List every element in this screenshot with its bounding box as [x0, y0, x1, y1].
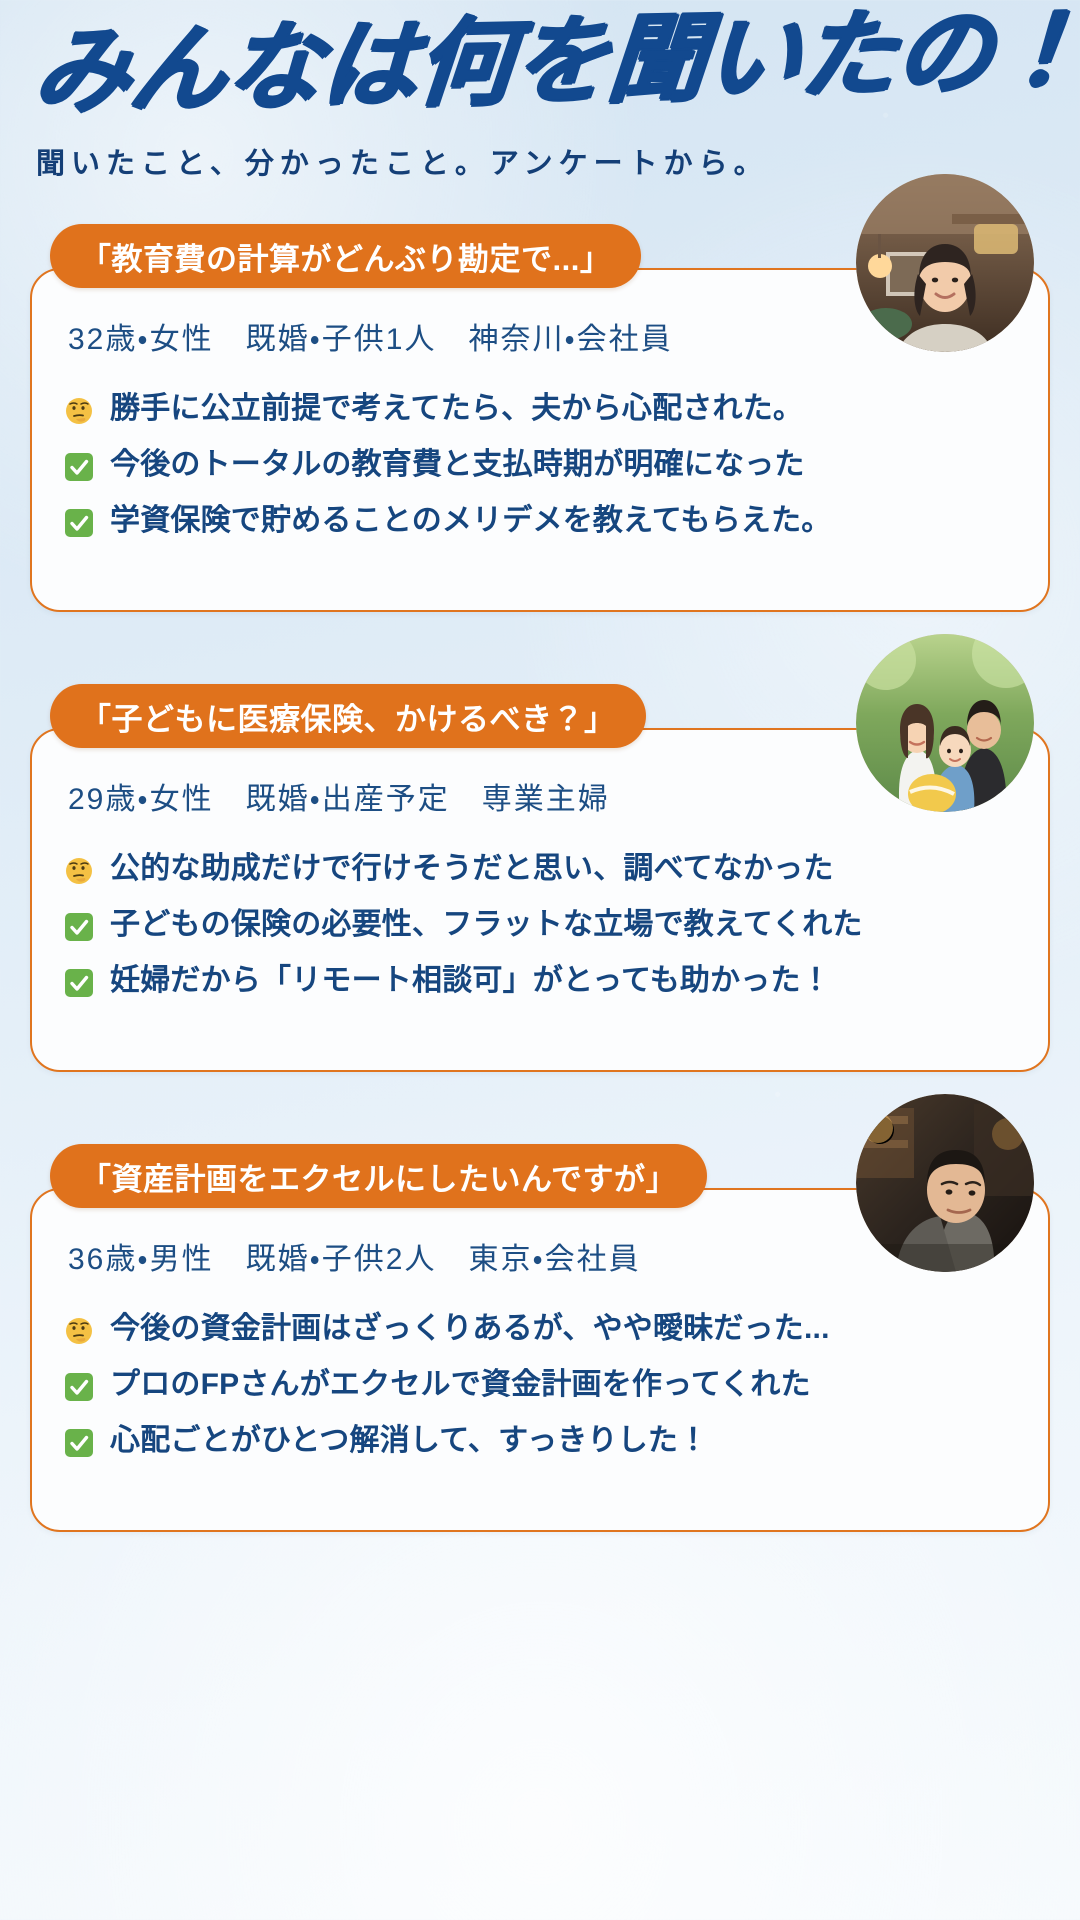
- point-text: 心配ごとがひとつ解消して、すっきりした！: [110, 1422, 708, 1460]
- point-text: 学資保険で貯めることのメリデメを教えてもらえた。: [110, 502, 832, 540]
- points-list: 公的な助成だけで行けそうだと思い、調べてなかった 子どもの保険の必要性、フラット…: [62, 850, 1024, 1006]
- poster-page: みんなは何を聞いたの！？ 聞いたこと、分かったこと。アンケートから。 「教育費の…: [0, 0, 1080, 1920]
- thinking-face-icon: [62, 1314, 96, 1348]
- point-text: 勝手に公立前提で考えてたら、夫から心配された。: [110, 390, 803, 428]
- testimonial-card: 「資産計画をエクセルにしたいんですが」: [30, 1188, 1050, 1532]
- green-check-icon: [62, 1426, 96, 1460]
- page-subtitle: 聞いたこと、分かったこと。アンケートから。: [36, 140, 769, 182]
- green-check-icon: [62, 1370, 96, 1404]
- list-item: 勝手に公立前提で考えてたら、夫から心配された。: [62, 390, 1024, 434]
- list-item: 今後のトータルの教育費と支払時期が明確になった: [62, 446, 1024, 490]
- points-list: 今後の資金計画はざっくりあるが、やや曖昧だった... プロのFPさんがエクセルで…: [62, 1310, 1024, 1466]
- green-check-icon: [62, 450, 96, 484]
- respondent-meta: 36歳・男性 既婚・子供2人 東京・会社員: [68, 1234, 641, 1278]
- respondent-meta: 29歳・女性 既婚・出産予定 専業主婦: [68, 774, 610, 818]
- avatar: [856, 174, 1034, 352]
- point-text: プロのFPさんがエクセルで資金計画を作ってくれた: [110, 1366, 811, 1404]
- thinking-face-icon: [62, 394, 96, 428]
- testimonial-card: 「子どもに医療保険、かけるべき？」: [30, 728, 1050, 1072]
- list-item: プロのFPさんがエクセルで資金計画を作ってくれた: [62, 1366, 1024, 1410]
- card-question-badge: 「資産計画をエクセルにしたいんですが」: [50, 1144, 707, 1208]
- testimonial-card: 「教育費の計算がどんぶり勘定で...」: [30, 268, 1050, 612]
- thinking-face-icon: [62, 854, 96, 888]
- point-text: 今後のトータルの教育費と支払時期が明確になった: [110, 446, 805, 484]
- page-title: みんなは何を聞いたの！？: [30, 1, 1061, 123]
- avatar: [856, 634, 1034, 812]
- point-text: 公的な助成だけで行けそうだと思い、調べてなかった: [110, 850, 834, 888]
- list-item: 子どもの保険の必要性、フラットな立場で教えてくれた: [62, 906, 1024, 950]
- point-text: 妊婦だから「リモート相談可」がとっても助かった！: [110, 962, 831, 1000]
- points-list: 勝手に公立前提で考えてたら、夫から心配された。 今後のトータルの教育費と支払時期…: [62, 390, 1024, 546]
- green-check-icon: [62, 910, 96, 944]
- card-question-badge: 「子どもに医療保険、かけるべき？」: [50, 684, 646, 748]
- point-text: 子どもの保険の必要性、フラットな立場で教えてくれた: [110, 906, 863, 944]
- list-item: 公的な助成だけで行けそうだと思い、調べてなかった: [62, 850, 1024, 894]
- green-check-icon: [62, 966, 96, 1000]
- list-item: 学資保険で貯めることのメリデメを教えてもらえた。: [62, 502, 1024, 546]
- respondent-meta: 32歳・女性 既婚・子供1人 神奈川・会社員: [68, 314, 673, 358]
- list-item: 心配ごとがひとつ解消して、すっきりした！: [62, 1422, 1024, 1466]
- list-item: 妊婦だから「リモート相談可」がとっても助かった！: [62, 962, 1024, 1006]
- card-question-badge: 「教育費の計算がどんぶり勘定で...」: [50, 224, 641, 288]
- avatar: [856, 1094, 1034, 1272]
- point-text: 今後の資金計画はざっくりあるが、やや曖昧だった...: [110, 1310, 830, 1348]
- green-check-icon: [62, 506, 96, 540]
- list-item: 今後の資金計画はざっくりあるが、やや曖昧だった...: [62, 1310, 1024, 1354]
